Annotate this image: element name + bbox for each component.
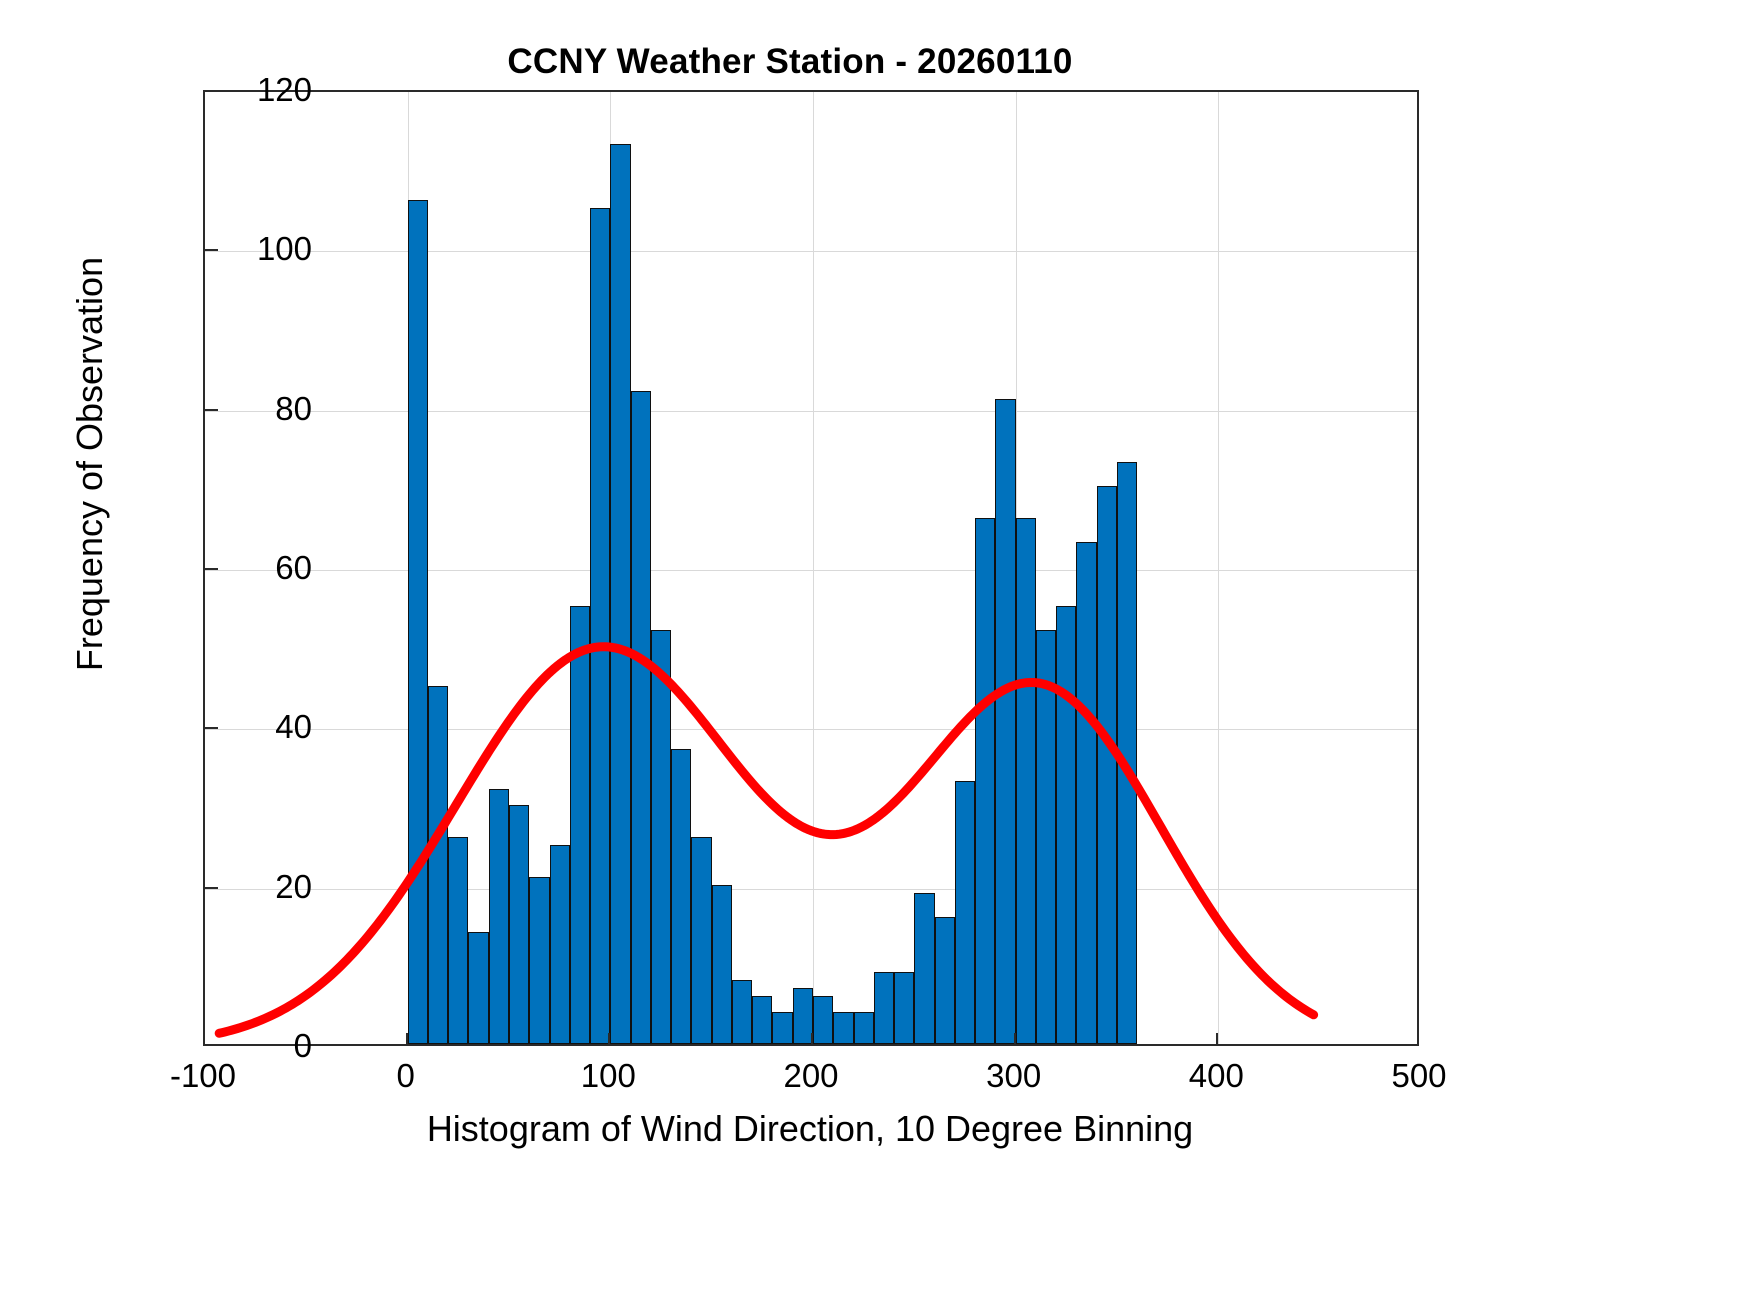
histogram-bar [935, 917, 955, 1044]
histogram-bar [813, 996, 833, 1044]
x-tick-mark [1216, 1033, 1218, 1046]
x-tick-label: 0 [296, 1057, 516, 1095]
y-tick-label: 100 [92, 230, 312, 268]
histogram-bar [489, 789, 509, 1044]
histogram-bar [833, 1012, 853, 1044]
histogram-bar [610, 144, 630, 1044]
histogram-bar [1076, 542, 1096, 1044]
y-tick-label: 20 [92, 868, 312, 906]
histogram-bar [793, 988, 813, 1044]
histogram-bar [408, 200, 428, 1044]
y-tick-mark [205, 568, 218, 570]
y-tick-mark [205, 409, 218, 411]
histogram-bar [671, 749, 691, 1044]
histogram-bar [428, 686, 448, 1045]
histogram-bar [1016, 518, 1036, 1044]
histogram-bar [590, 208, 610, 1045]
y-tick-mark [205, 727, 218, 729]
x-axis-label: Histogram of Wind Direction, 10 Degree B… [0, 1108, 1620, 1150]
x-tick-mark [608, 1033, 610, 1046]
x-tick-mark [811, 1033, 813, 1046]
histogram-bar [712, 885, 732, 1044]
histogram-bar [529, 877, 549, 1044]
plot-area [203, 90, 1419, 1046]
histogram-bar [955, 781, 975, 1044]
histogram-bar [468, 932, 488, 1044]
y-tick-label: 40 [92, 708, 312, 746]
y-axis-label: Frequency of Observation [69, 14, 111, 914]
x-tick-mark [406, 1033, 408, 1046]
histogram-bar [509, 805, 529, 1044]
histogram-bar [975, 518, 995, 1044]
y-tick-label: 80 [92, 390, 312, 428]
histogram-bar [1097, 486, 1117, 1044]
histogram-bar [1036, 630, 1056, 1044]
histogram-bars [205, 92, 1417, 1044]
histogram-bar [914, 893, 934, 1044]
histogram-bar [1056, 606, 1076, 1044]
figure-canvas: CCNY Weather Station - 20260110 02040608… [0, 0, 1750, 1313]
histogram-bar [752, 996, 772, 1044]
y-tick-label: 60 [92, 549, 312, 587]
y-tick-mark [205, 249, 218, 251]
histogram-bar [732, 980, 752, 1044]
x-tick-label: 100 [498, 1057, 718, 1095]
histogram-bar [448, 837, 468, 1044]
histogram-bar [1117, 462, 1137, 1044]
x-tick-label: 500 [1309, 1057, 1529, 1095]
histogram-bar [772, 1012, 792, 1044]
histogram-bar [631, 391, 651, 1044]
histogram-bar [894, 972, 914, 1044]
histogram-bar [854, 1012, 874, 1044]
histogram-bar [691, 837, 711, 1044]
histogram-bar [570, 606, 590, 1044]
y-tick-mark [205, 887, 218, 889]
x-tick-label: 400 [1106, 1057, 1326, 1095]
histogram-bar [995, 399, 1015, 1044]
histogram-bar [550, 845, 570, 1044]
histogram-bar [874, 972, 894, 1044]
x-tick-label: 300 [904, 1057, 1124, 1095]
x-tick-label: -100 [93, 1057, 313, 1095]
histogram-bar [651, 630, 671, 1044]
x-tick-mark [1014, 1033, 1016, 1046]
y-tick-label: 120 [92, 71, 312, 109]
x-tick-label: 200 [701, 1057, 921, 1095]
